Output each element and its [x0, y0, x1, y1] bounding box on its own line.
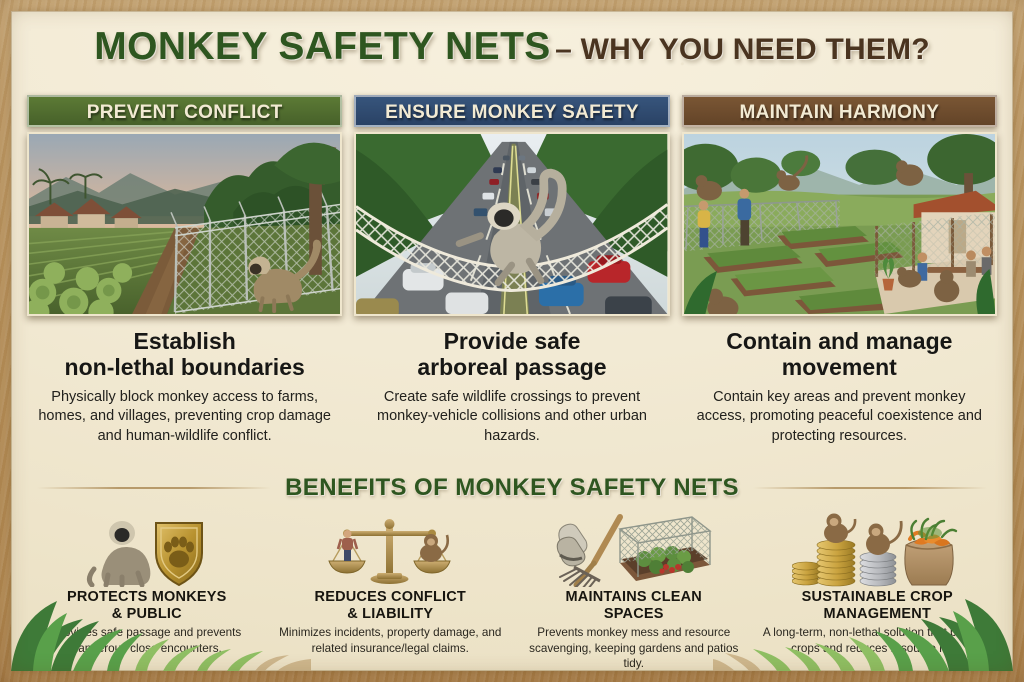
benefit-name-line-2: & PUBLIC	[31, 606, 263, 623]
benefit-name-line-2: SPACES	[518, 606, 750, 623]
benefit-name-line-1: PROTECTS MONKEYS	[31, 589, 263, 606]
benefit-name-line-2: & LIABILITY	[275, 606, 507, 623]
poster-paper: MONKEY SAFETY NETS – WHY YOU NEED THEM? …	[11, 11, 1013, 671]
benefit-maintains-clean-spaces: MAINTAINS CLEAN SPACES Prevents monkey m…	[512, 511, 756, 671]
netted-garden-home-photo	[682, 132, 997, 316]
benefit-desc-3: Prevents monkey mess and resource scaven…	[518, 625, 750, 671]
column-header-ensure-monkey-safety: ENSURE MONKEY SAFETY	[354, 95, 669, 127]
benefit-name-line-2: MANAGEMENT	[762, 606, 994, 623]
farm-fence-monkey-photo	[27, 132, 342, 316]
benefit-desc-1: Provides safe passage and prevents dange…	[31, 625, 263, 655]
title-main: MONKEY SAFETY NETS	[94, 25, 551, 68]
benefit-desc-4: A long-term, non-lethal solution that pr…	[762, 625, 994, 655]
column-body-prevent-conflict: Physically block monkey access to farms,…	[27, 388, 342, 446]
garden-rake-gloves-icon	[518, 511, 750, 587]
benefit-name-line-1: REDUCES CONFLICT	[275, 589, 507, 606]
benefit-sustainable-crop-management: SUSTAINABLE CROP MANAGEMENT A long-term,…	[756, 511, 1000, 671]
column-ensure-monkey-safety: ENSURE MONKEY SAFETY	[354, 95, 669, 446]
divider-right	[753, 487, 987, 489]
caption-line-2: arboreal passage	[354, 354, 669, 380]
benefits-title: BENEFITS OF MONKEY SAFETY NETS	[285, 474, 739, 502]
column-header-prevent-conflict: PREVENT CONFLICT	[27, 95, 342, 127]
column-body-maintain-harmony: Contain key areas and prevent monkey acc…	[682, 388, 997, 446]
benefit-name-4: SUSTAINABLE CROP MANAGEMENT	[762, 589, 994, 622]
caption-line-1: Contain and manage	[682, 328, 997, 354]
infographic-poster: MONKEY SAFETY NETS – WHY YOU NEED THEM? …	[0, 0, 1024, 682]
column-body-ensure-monkey-safety: Create safe wildlife crossings to preven…	[354, 388, 669, 446]
balance-scale-icon	[275, 511, 507, 587]
benefit-desc-2: Minimizes incidents, property damage, an…	[275, 625, 507, 655]
benefits-grid: PROTECTS MONKEYS & PUBLIC Provides safe …	[25, 511, 999, 671]
caption-line-1: Provide safe	[354, 328, 669, 354]
benefit-protects-monkeys-public: PROTECTS MONKEYS & PUBLIC Provides safe …	[25, 511, 269, 671]
column-prevent-conflict: PREVENT CONFLICT	[27, 95, 342, 446]
benefit-name-line-1: MAINTAINS CLEAN	[518, 589, 750, 606]
column-caption-maintain-harmony: Contain and manage movement	[682, 328, 997, 380]
poster-title: MONKEY SAFETY NETS – WHY YOU NEED THEM?	[11, 25, 1013, 69]
benefit-reduces-conflict-liability: REDUCES CONFLICT & LIABILITY Minimizes i…	[269, 511, 513, 671]
column-maintain-harmony: MAINTAIN HARMONY	[682, 95, 997, 446]
benefit-name-line-1: SUSTAINABLE CROP	[762, 589, 994, 606]
divider-left	[37, 487, 271, 489]
monkey-shield-paw-icon	[31, 511, 263, 587]
caption-line-2: non-lethal boundaries	[27, 354, 342, 380]
columns-row: PREVENT CONFLICT	[27, 95, 997, 446]
column-header-maintain-harmony: MAINTAIN HARMONY	[682, 95, 997, 127]
benefit-name-2: REDUCES CONFLICT & LIABILITY	[275, 589, 507, 622]
title-subtitle: – WHY YOU NEED THEM?	[555, 33, 930, 66]
benefit-name-3: MAINTAINS CLEAN SPACES	[518, 589, 750, 622]
benefits-title-row: BENEFITS OF MONKEY SAFETY NETS	[37, 474, 987, 502]
column-caption-ensure-monkey-safety: Provide safe arboreal passage	[354, 328, 669, 380]
caption-line-2: movement	[682, 354, 997, 380]
benefit-name-1: PROTECTS MONKEYS & PUBLIC	[31, 589, 263, 622]
column-caption-prevent-conflict: Establish non-lethal boundaries	[27, 328, 342, 380]
coins-monkey-harvest-icon	[762, 511, 994, 587]
caption-line-1: Establish	[27, 328, 342, 354]
highway-rope-bridge-photo	[354, 132, 669, 316]
